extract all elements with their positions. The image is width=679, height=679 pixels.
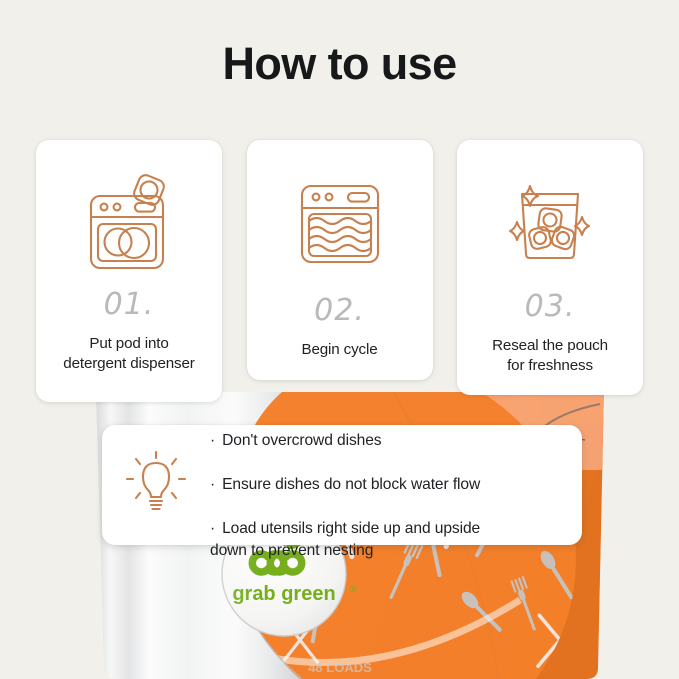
step-number: 01. bbox=[104, 290, 155, 320]
tip-bullet-icon: · bbox=[210, 520, 222, 537]
step-card-3[interactable]: 03. Reseal the pouch for freshness bbox=[457, 140, 643, 395]
tip-text: Don't overcrowd dishes bbox=[222, 432, 381, 449]
tip-item: ·Ensure dishes do not block water flow bbox=[210, 452, 568, 496]
page-title: How to use bbox=[0, 38, 679, 90]
tip-text: Ensure dishes do not block water flow bbox=[222, 476, 480, 493]
tip-bullet-icon: · bbox=[210, 432, 222, 449]
steps-row: 01. Put pod into detergent dispenser bbox=[36, 140, 643, 402]
step-card-2[interactable]: 02. Begin cycle bbox=[247, 140, 433, 380]
lightbulb-icon bbox=[102, 449, 210, 521]
tip-item: ·Load utensils right side up and upside … bbox=[210, 496, 568, 562]
dishwasher-with-pod-icon bbox=[77, 162, 181, 286]
step-number: 03. bbox=[525, 292, 576, 322]
tips-card[interactable]: ·Don't overcrowd dishes ·Ensure dishes d… bbox=[102, 425, 582, 545]
tip-item: ·Don't overcrowd dishes bbox=[210, 408, 568, 452]
step-label: Reseal the pouch for freshness bbox=[486, 336, 614, 376]
tip-text: Load utensils right side up and upside d… bbox=[210, 520, 480, 559]
svg-text:48 LOADS: 48 LOADS bbox=[308, 660, 372, 675]
dishwasher-running-icon bbox=[292, 162, 388, 286]
step-number: 02. bbox=[314, 296, 365, 326]
tip-bullet-icon: · bbox=[210, 476, 222, 493]
svg-text:®: ® bbox=[350, 584, 357, 594]
pouch-with-pods-icon bbox=[500, 162, 600, 286]
tips-list: ·Don't overcrowd dishes ·Ensure dishes d… bbox=[210, 408, 582, 563]
step-label: Begin cycle bbox=[295, 340, 383, 360]
step-label: Put pod into detergent dispenser bbox=[57, 334, 200, 374]
step-card-1[interactable]: 01. Put pod into detergent dispenser bbox=[36, 140, 222, 402]
product-howto-infographic: grab green ® 48 LOADS How to use bbox=[0, 0, 679, 679]
